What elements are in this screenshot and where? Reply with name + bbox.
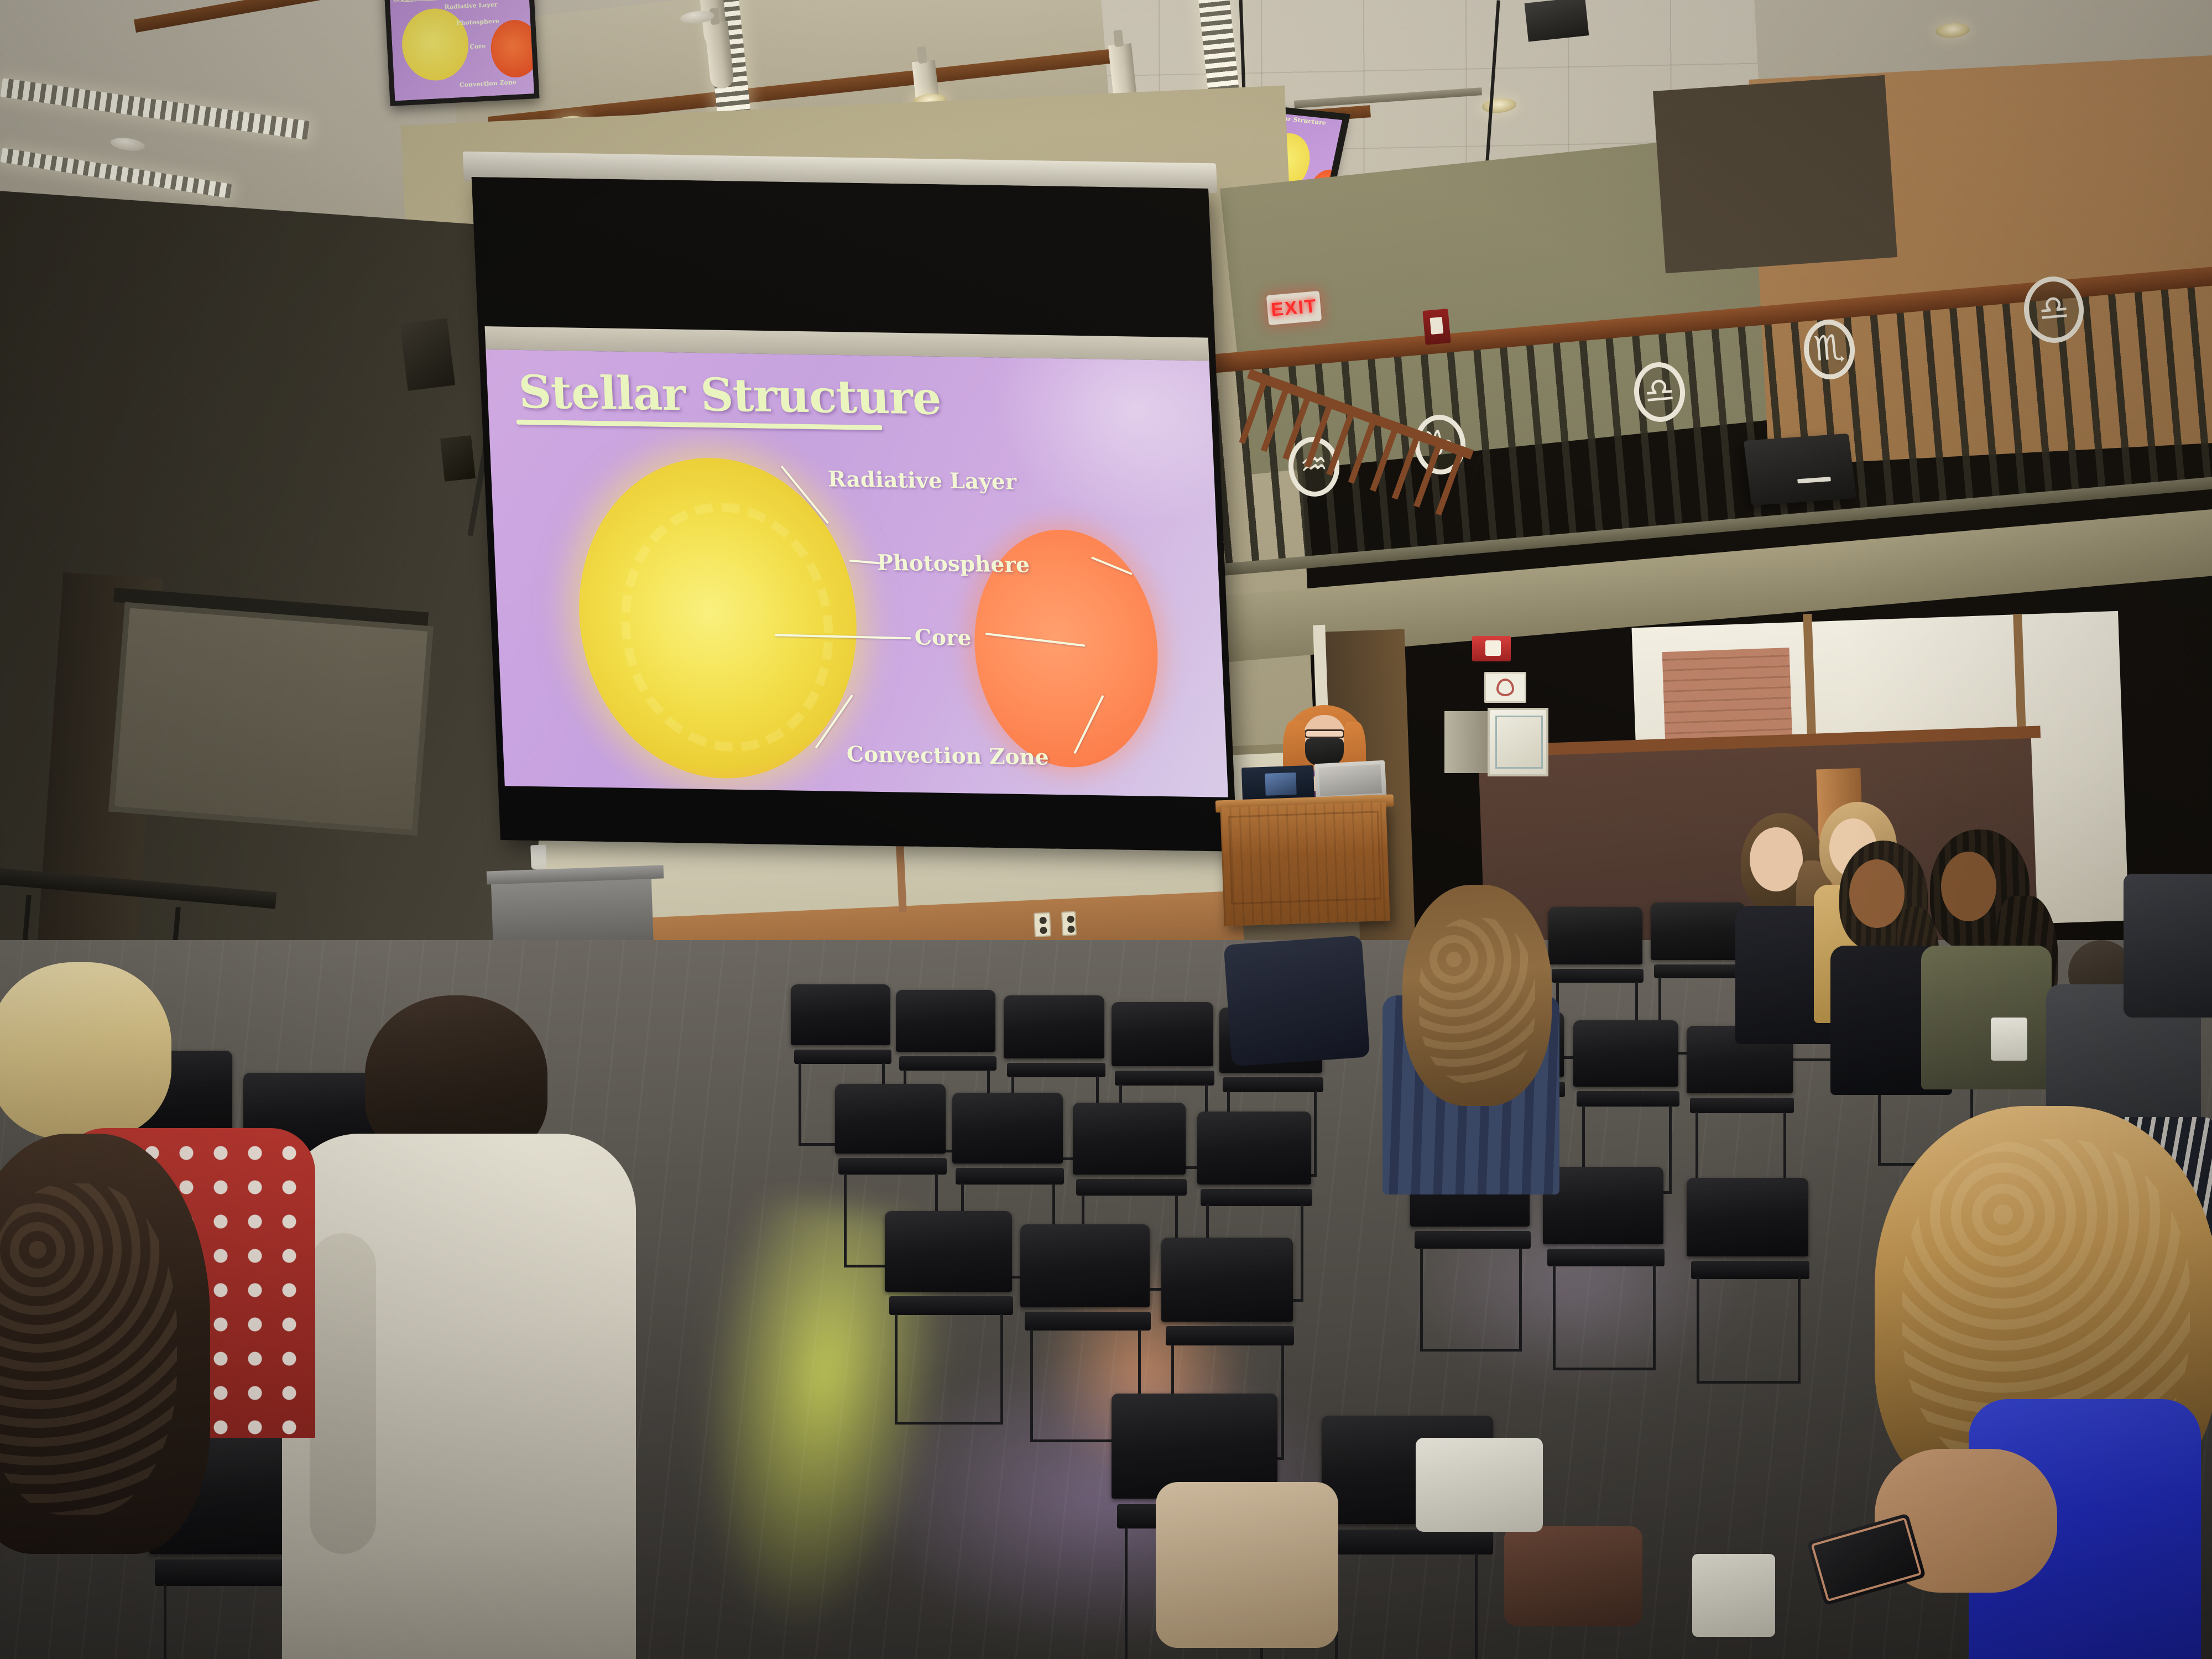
wall-speaker (440, 435, 476, 481)
left-window (108, 602, 434, 836)
podium-panel-inset (1228, 811, 1381, 904)
aed-cabinet-window (1495, 716, 1543, 769)
hair (0, 962, 171, 1139)
draped-sweater (1156, 1482, 1338, 1648)
aed-sign (1484, 672, 1526, 703)
fire-alarm-strobe (1472, 636, 1511, 661)
label-photosphere: Photosphere (877, 550, 1030, 578)
hair-texture (1419, 918, 1535, 1084)
wall-outlet[interactable] (1061, 911, 1077, 936)
smartphone[interactable] (1807, 1513, 1926, 1606)
exit-sign-label: EXIT (1270, 295, 1318, 321)
slide-title: Stellar Structure (518, 366, 942, 425)
fire-alarm-pull-station[interactable] (1422, 309, 1451, 345)
wall-outlet[interactable] (1034, 912, 1051, 937)
paper-cup-floor[interactable] (1692, 1554, 1775, 1637)
handbag[interactable] (1504, 1526, 1642, 1626)
label-core: Core (914, 624, 972, 651)
torso (1921, 946, 2052, 1089)
screen-mask-area (472, 177, 1215, 338)
paper-cup[interactable] (530, 845, 547, 870)
aed-cabinet[interactable] (1488, 708, 1548, 776)
projection-screen: Stellar Structure Radiative Layer Photos… (472, 177, 1238, 852)
podium (1220, 802, 1390, 926)
attendee-front-left-dark (0, 1134, 299, 1659)
ceiling-projector (1525, 0, 1589, 42)
scorpio-glyph: ♏ (1812, 330, 1846, 367)
attendee-mid-plaid (1366, 885, 1587, 1194)
attendee-front-right-blue (1786, 1106, 2212, 1659)
head (1849, 859, 1905, 928)
label-radiative-layer: Radiative Layer (827, 466, 1017, 494)
slide-stellar-structure: Stellar Structure Radiative Layer Photos… (486, 349, 1228, 797)
paper-cup[interactable] (1991, 1018, 2027, 1061)
overhead-label-core: Core (469, 43, 486, 50)
dark-wall-panel (1653, 75, 1897, 273)
glasses-icon (1304, 729, 1345, 738)
paper-stack[interactable] (1416, 1438, 1543, 1532)
heart-icon (1496, 679, 1514, 696)
backpack[interactable] (2124, 874, 2212, 1018)
exit-sign: EXIT (1266, 291, 1322, 325)
bose-speaker (1744, 434, 1856, 505)
slide-glare (985, 349, 1228, 528)
aed-cabinet-side (1444, 711, 1489, 773)
lecture-hall-photo: Stellar Structure Radiative Layer Photos… (0, 0, 2212, 1659)
wall-speaker (400, 318, 455, 391)
hair-texture (0, 1183, 177, 1515)
av-control-box[interactable] (1241, 765, 1314, 802)
star-cutaway-large (572, 456, 863, 780)
overhead-monitor-left: Stellar Structure Radiative Layer Photos… (384, 0, 540, 106)
coat-on-chair (1224, 936, 1370, 1067)
label-convection-zone: Convection Zone (846, 742, 1050, 770)
libra-left-glyph: ♎ (1642, 372, 1676, 409)
head (1941, 852, 1996, 921)
face-mask (1305, 738, 1344, 766)
libra-right-glyph: ♎ (2037, 290, 2070, 327)
head (1750, 827, 1803, 891)
